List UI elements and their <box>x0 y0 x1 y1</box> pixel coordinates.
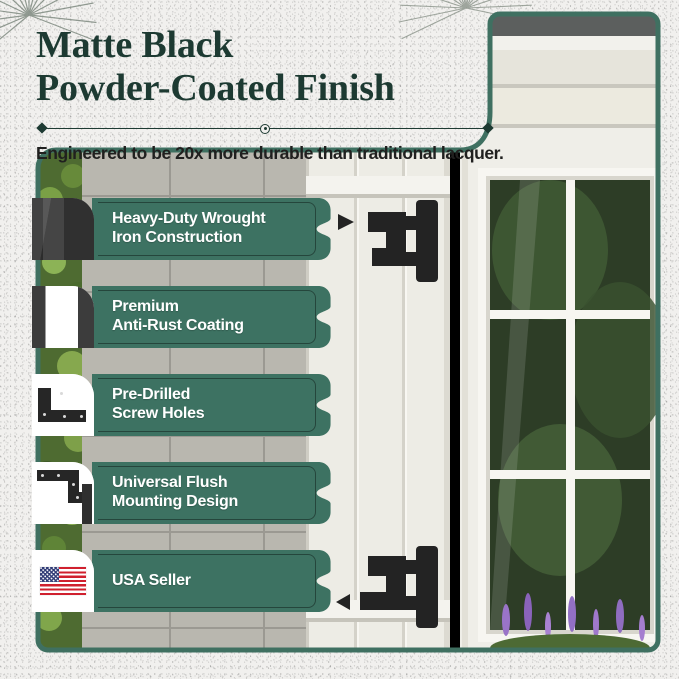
feature-banner: Heavy-Duty Wrought Iron Construction <box>92 198 332 260</box>
feature-label: Pre-Drilled Screw Holes <box>112 386 204 423</box>
anti-rust-coating-icon <box>32 286 94 348</box>
feature-label: Universal Flush Mounting Design <box>112 474 238 511</box>
flush-mount-hinge-icon <box>32 462 94 524</box>
feature-thumbnail-flush-mount <box>32 462 94 524</box>
feature-badge: Universal Flush Mounting Design <box>32 462 332 524</box>
eave-trim <box>490 14 658 128</box>
feature-thumbnail-anti-rust <box>32 286 94 348</box>
diamond-ornament-left <box>36 123 47 134</box>
flag-canton <box>40 567 59 582</box>
feature-banner: Premium Anti-Rust Coating <box>92 286 332 348</box>
shutter-rail-top <box>306 176 452 196</box>
paned-window <box>478 168 662 642</box>
feature-banner: Pre-Drilled Screw Holes <box>92 374 332 436</box>
usa-flag-icon <box>32 550 94 612</box>
feature-thumbnail-usa-flag <box>32 550 94 612</box>
feature-thumbnail-wrought-iron <box>32 198 94 260</box>
title-line-1: Matte Black <box>36 24 233 66</box>
feature-badge-list: Heavy-Duty Wrought Iron Construction Pre… <box>32 198 332 612</box>
subtitle: Engineered to be 20x more durable than t… <box>36 143 506 164</box>
pre-drilled-hinge-icon <box>32 374 94 436</box>
feature-badge: Premium Anti-Rust Coating <box>32 286 332 348</box>
feature-badge: Heavy-Duty Wrought Iron Construction <box>32 198 332 260</box>
page-title: Matte Black Powder-Coated Finish <box>36 24 506 109</box>
feature-label: Premium Anti-Rust Coating <box>112 298 244 335</box>
feature-label: Heavy-Duty Wrought Iron Construction <box>112 210 265 247</box>
feature-badge: USA Seller <box>32 550 332 612</box>
feature-banner: USA Seller <box>92 550 332 612</box>
feature-label: USA Seller <box>112 572 191 591</box>
feature-banner: Universal Flush Mounting Design <box>92 462 332 524</box>
product-infographic: Matte Black Powder-Coated Finish Enginee… <box>0 0 679 679</box>
circle-ornament-center <box>260 124 270 134</box>
decorative-divider <box>36 122 494 136</box>
wrought-iron-texture-icon <box>32 198 94 260</box>
diamond-ornament-right <box>482 123 493 134</box>
title-line-2: Powder-Coated Finish <box>36 67 506 110</box>
header: Matte Black Powder-Coated Finish Enginee… <box>36 24 506 164</box>
feature-thumbnail-screw-holes <box>32 374 94 436</box>
feature-badge: Pre-Drilled Screw Holes <box>32 374 332 436</box>
flag-stripes <box>40 567 86 595</box>
